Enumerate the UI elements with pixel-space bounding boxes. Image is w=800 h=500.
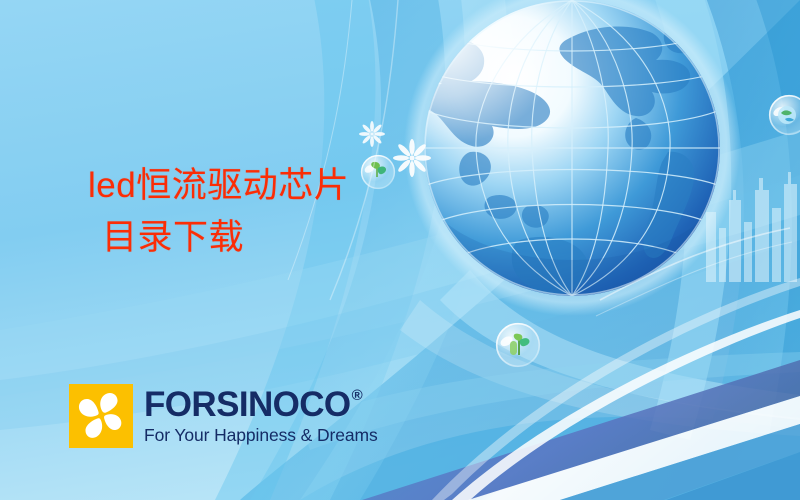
logo-wordmark: FORSINOCO ® [144, 387, 378, 422]
headline-line-1: led恒流驱动芯片 [88, 163, 349, 209]
company-logo[interactable]: FORSINOCO ® For Your Happiness & Dreams [69, 384, 378, 448]
logo-wordmark-text: FORSINOCO [144, 387, 351, 422]
logo-tagline: For Your Happiness & Dreams [144, 427, 378, 445]
banner-canvas: led恒流驱动芯片 目录下载 FORSINOCO ® For Your Happ [0, 0, 800, 500]
forsinoco-pinwheel-icon [69, 384, 133, 448]
headline-line-2: 目录下载 [88, 215, 349, 261]
sparkle-flower-large [393, 139, 431, 177]
bubble-leaf [361, 155, 395, 189]
registered-trademark-symbol: ® [352, 388, 362, 403]
headline-text: led恒流驱动芯片 目录下载 [88, 163, 349, 260]
bubble-sprout [496, 323, 540, 367]
logo-text-block: FORSINOCO ® For Your Happiness & Dreams [144, 387, 378, 445]
